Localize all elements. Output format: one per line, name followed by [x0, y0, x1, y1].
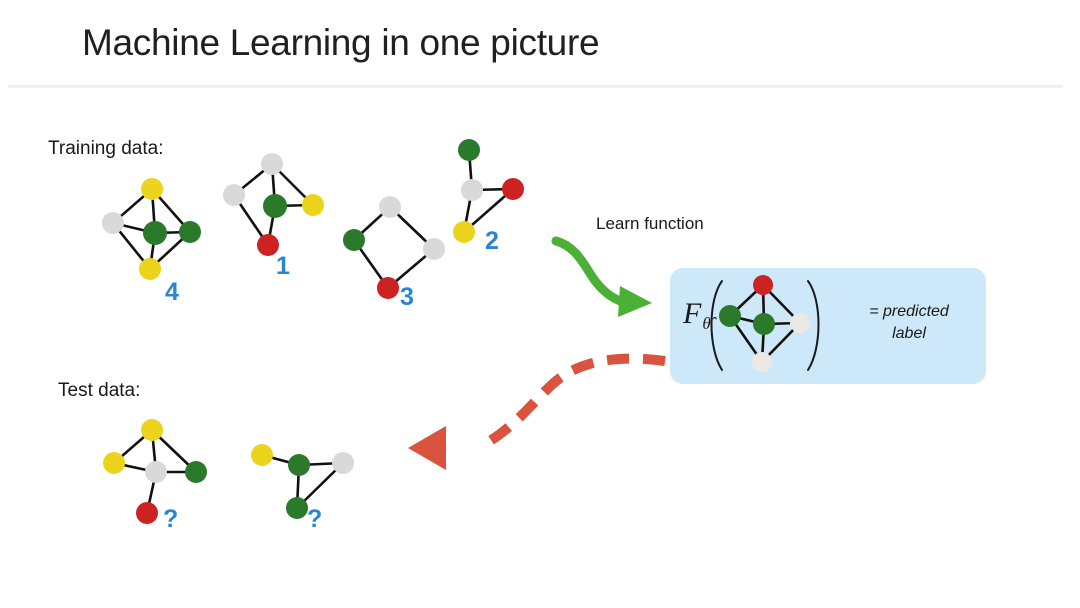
- graph-edge: [354, 207, 390, 240]
- graph-edge: [152, 430, 156, 472]
- graph-edge: [469, 150, 472, 190]
- graph-node: [263, 194, 287, 218]
- learn-arrow-head-icon: [618, 286, 652, 317]
- graph-node: [251, 444, 273, 466]
- test-data-label: Test data:: [58, 380, 140, 402]
- graph-node: [288, 454, 310, 476]
- graph-node: [223, 184, 245, 206]
- graph-node: [332, 452, 354, 474]
- learn-function-label: Learn function: [596, 214, 704, 234]
- learn-arrow-shaft: [556, 241, 620, 301]
- graph-edge: [275, 205, 313, 206]
- training-data-label: Training data:: [48, 138, 163, 160]
- graph-edge: [113, 189, 152, 223]
- graph-node: [343, 229, 365, 251]
- equals-sign: =: [869, 303, 878, 320]
- predict-arrow-head-icon: [408, 426, 446, 470]
- slide-canvas: Machine Learning in one picture Training…: [0, 0, 1080, 608]
- graph-node: [261, 153, 283, 175]
- graph-edge: [114, 463, 156, 472]
- graph-node: [185, 461, 207, 483]
- graph-edge: [390, 207, 434, 249]
- graph-node: [145, 461, 167, 483]
- predict-arrow: [408, 359, 665, 470]
- graph-node: [179, 221, 201, 243]
- graph-edge: [152, 189, 190, 232]
- graph-edge: [113, 223, 150, 269]
- graph-edge: [150, 233, 155, 269]
- graph-node: [139, 258, 161, 280]
- graph-node: [423, 238, 445, 260]
- graph-edge: [299, 463, 343, 465]
- graph-node: [136, 502, 158, 524]
- graph-node: [453, 221, 475, 243]
- test-graph-1-label: ?: [163, 505, 178, 534]
- predicted-label-text: = predicted label: [848, 301, 970, 344]
- graph-node: [379, 196, 401, 218]
- graph-edge: [472, 189, 513, 190]
- predict-arrow-shaft: [480, 359, 665, 447]
- graph-edge: [262, 455, 299, 465]
- predictor-formula: Fθ̂: [683, 297, 711, 334]
- training-graph-2-label: 1: [276, 252, 290, 281]
- graph-edge: [150, 232, 190, 269]
- training-graph-1-label: 4: [165, 278, 179, 307]
- graph-edge: [113, 223, 155, 233]
- graph-edge: [464, 190, 472, 232]
- graph-edge: [114, 430, 152, 463]
- graph-node: [102, 212, 124, 234]
- formula-function-symbol: F: [683, 297, 701, 330]
- training-graph-2: [223, 153, 324, 256]
- learn-arrow: [556, 241, 652, 317]
- graph-node: [461, 179, 483, 201]
- graph-node: [502, 178, 524, 200]
- graph-edge: [354, 240, 388, 288]
- graph-edge: [155, 232, 190, 233]
- graph-node: [286, 497, 308, 519]
- graph-node: [141, 419, 163, 441]
- header-divider: [8, 85, 1063, 88]
- test-graph-1: [103, 419, 207, 524]
- test-graph-2: [251, 444, 354, 519]
- label-word: label: [892, 325, 926, 342]
- graph-edge: [297, 463, 343, 508]
- graph-node: [143, 221, 167, 245]
- graph-node: [141, 178, 163, 200]
- predicted-word: predicted: [883, 303, 949, 320]
- graph-edge: [234, 195, 268, 245]
- graph-edge: [147, 472, 156, 513]
- graph-edge: [234, 164, 272, 195]
- graph-node: [377, 277, 399, 299]
- graph-node: [458, 139, 480, 161]
- graph-edge: [464, 189, 513, 232]
- training-graph-3: [343, 196, 445, 299]
- page-title: Machine Learning in one picture: [82, 22, 599, 64]
- graph-edge: [297, 465, 299, 508]
- training-graph-4-label: 2: [485, 227, 499, 256]
- graph-node: [302, 194, 324, 216]
- graph-edge: [152, 189, 155, 233]
- graph-edge: [152, 430, 196, 472]
- formula-subscript: θ̂: [702, 314, 710, 333]
- test-graph-2-label: ?: [307, 505, 322, 534]
- graph-edge: [268, 206, 275, 245]
- graph-edge: [272, 164, 313, 205]
- graph-node: [103, 452, 125, 474]
- training-graph-3-label: 3: [400, 283, 414, 312]
- graph-edge: [272, 164, 275, 206]
- training-graph-1: [102, 178, 201, 280]
